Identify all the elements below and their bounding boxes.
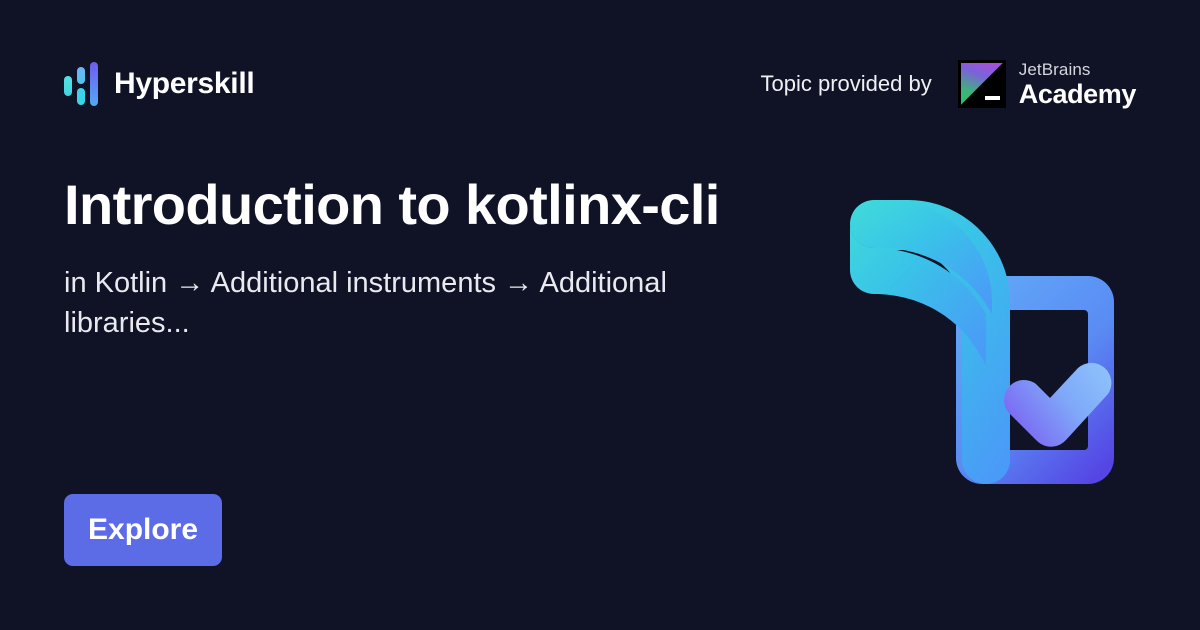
main-content: Introduction to kotlinx-cli in Kotlin → … <box>0 168 1200 630</box>
brand-name: Hyperskill <box>114 67 254 101</box>
jetbrains-wordmark-line1: JetBrains <box>1019 61 1136 78</box>
provider-label: Topic provided by <box>761 71 932 97</box>
hyperskill-logo-icon <box>64 62 96 106</box>
breadcrumb: in Kotlin → Additional instruments → Add… <box>64 263 764 343</box>
page-title: Introduction to kotlinx-cli <box>64 174 784 237</box>
jetbrains-square-logo-icon <box>958 60 1006 108</box>
open-book-with-checked-card-icon <box>850 188 1140 508</box>
logo-bar-middle-bottom <box>77 88 85 105</box>
jetbrains-wordmark: JetBrains Academy <box>1019 61 1136 108</box>
jetbrains-academy-logo[interactable]: JetBrains Academy <box>958 60 1136 108</box>
logo-bar-left <box>64 76 72 96</box>
topic-share-card: Hyperskill Topic provided by JetBrains A… <box>0 0 1200 630</box>
explore-button[interactable]: Explore <box>64 494 222 566</box>
topic-copy: Introduction to kotlinx-cli in Kotlin → … <box>64 174 784 343</box>
jetbrains-wordmark-line2: Academy <box>1019 81 1136 108</box>
jetbrains-underscore-mark <box>985 96 1000 100</box>
provider-block: Topic provided by JetBrains Academy <box>761 60 1136 108</box>
logo-bar-right <box>90 62 98 106</box>
hyperskill-brand[interactable]: Hyperskill <box>64 60 254 108</box>
page-header: Hyperskill Topic provided by JetBrains A… <box>0 0 1200 168</box>
logo-bar-middle-top <box>77 67 85 84</box>
